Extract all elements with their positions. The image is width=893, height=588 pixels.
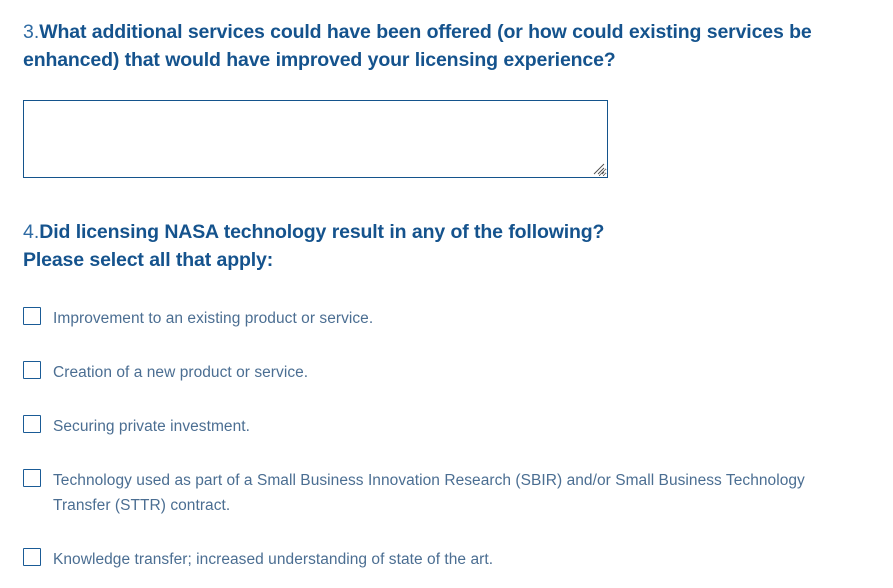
option-label[interactable]: Improvement to an existing product or se… <box>53 306 373 331</box>
option-row[interactable]: Improvement to an existing product or se… <box>23 306 868 331</box>
question-4-options-list: Improvement to an existing product or se… <box>23 306 868 572</box>
checkbox-knowledge-transfer[interactable] <box>23 548 41 566</box>
option-label[interactable]: Creation of a new product or service. <box>53 360 308 385</box>
question-3-text: What additional services could have been… <box>23 21 812 71</box>
question-4-heading-line-1: 4.Did licensing NASA technology result i… <box>23 218 783 246</box>
question-4-text: Did licensing NASA technology result in … <box>39 221 604 243</box>
checkbox-sbir-sttr-contract[interactable] <box>23 469 41 487</box>
question-4-block: 4.Did licensing NASA technology result i… <box>23 218 783 274</box>
checkbox-creation-new-product[interactable] <box>23 361 41 379</box>
question-4-number: 4. <box>23 221 39 243</box>
question-3-heading: 3.What additional services could have be… <box>23 18 823 74</box>
checkbox-improvement-existing-product[interactable] <box>23 307 41 325</box>
question-3-block: 3.What additional services could have be… <box>23 18 823 74</box>
option-row[interactable]: Knowledge transfer; increased understand… <box>23 547 868 572</box>
licensing-survey-form: 3.What additional services could have be… <box>0 0 893 588</box>
option-label[interactable]: Knowledge transfer; increased understand… <box>53 547 493 572</box>
option-row[interactable]: Securing private investment. <box>23 414 868 439</box>
question-3-number: 3. <box>23 21 39 43</box>
checkbox-securing-private-investment[interactable] <box>23 415 41 433</box>
question-3-answer-wrap <box>23 100 608 178</box>
option-label[interactable]: Technology used as part of a Small Busin… <box>53 468 813 518</box>
option-row[interactable]: Technology used as part of a Small Busin… <box>23 468 868 518</box>
question-3-answer-textarea[interactable] <box>23 100 608 178</box>
question-4-heading-line-2: Please select all that apply: <box>23 246 783 274</box>
option-row[interactable]: Creation of a new product or service. <box>23 360 868 385</box>
option-label[interactable]: Securing private investment. <box>53 414 250 439</box>
